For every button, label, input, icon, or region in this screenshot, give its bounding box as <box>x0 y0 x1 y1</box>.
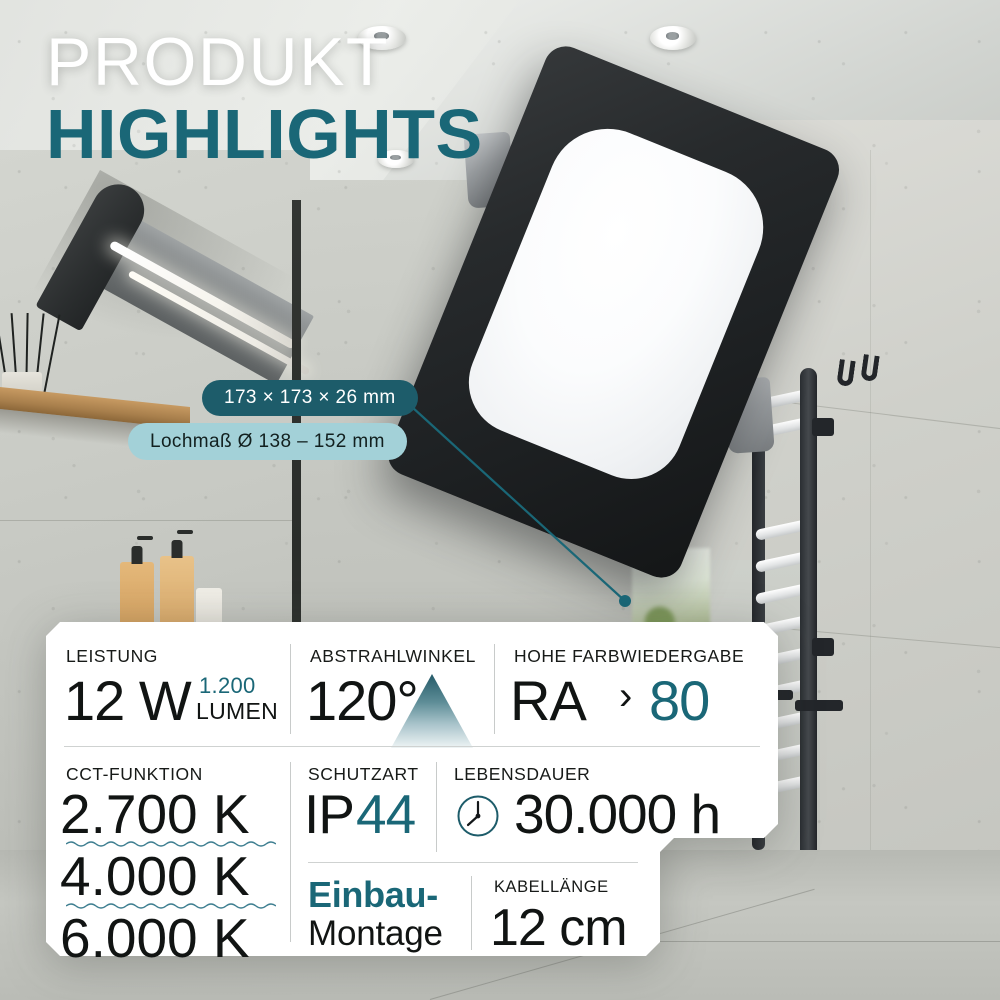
divider-vertical <box>436 762 437 852</box>
cutout-badge: Lochmaß Ø 138 – 152 mm <box>128 423 407 460</box>
tile-seam <box>870 150 871 850</box>
cct-value-1: 2.700 K <box>60 782 250 846</box>
protection-number: 44 <box>356 782 415 846</box>
lifetime-value: 30.000 h <box>514 782 720 846</box>
cri-prefix: RA <box>510 668 586 733</box>
power-label: LEISTUNG <box>66 646 158 667</box>
panel-diffuser <box>453 111 781 495</box>
cable-value: 12 cm <box>490 898 627 958</box>
beam-angle-value: 120° <box>306 668 418 733</box>
spec-card: LEISTUNG 12 W 1.200 LUMEN ABSTRAHLWINKEL… <box>46 622 778 956</box>
spec-card-content: LEISTUNG 12 W 1.200 LUMEN ABSTRAHLWINKEL… <box>46 622 778 956</box>
radiator-pole <box>800 368 817 868</box>
protection-prefix: IP <box>304 782 354 846</box>
page-title: PRODUKT HIGHLIGHTS <box>46 28 483 171</box>
cct-value-2: 4.000 K <box>60 844 250 908</box>
clock-icon <box>456 794 500 838</box>
ceiling-downlight-icon <box>650 26 696 50</box>
cri-symbol: › <box>619 674 632 719</box>
power-lumen-number: 1.200 <box>199 673 256 699</box>
divider-vertical <box>494 644 495 734</box>
tile-seam <box>0 520 300 521</box>
radiator-valve <box>795 700 843 711</box>
power-value: 12 W <box>64 668 191 733</box>
radiator-valve <box>812 418 834 436</box>
power-lumen-unit: LUMEN <box>196 698 278 725</box>
cri-number: 80 <box>649 668 709 733</box>
mounting-line-1: Einbau- <box>308 874 438 916</box>
radiator-valve <box>812 638 834 656</box>
divider-horizontal <box>308 862 638 863</box>
headline-line-1: PRODUKT <box>46 28 483 97</box>
divider-vertical <box>471 876 472 950</box>
divider-horizontal <box>64 746 760 747</box>
headline-line-2: HIGHLIGHTS <box>46 99 483 170</box>
divider-vertical <box>290 762 291 942</box>
divider-vertical <box>290 644 291 734</box>
cct-value-3: 6.000 K <box>60 906 250 970</box>
cable-label: KABELLÄNGE <box>494 878 609 897</box>
mounting-line-2: Montage <box>308 914 443 954</box>
cri-label: HOHE FARBWIEDERGABE <box>514 646 744 667</box>
beam-angle-label: ABSTRAHLWINKEL <box>310 646 476 667</box>
dimensions-badge: 173 × 173 × 26 mm <box>202 380 418 416</box>
